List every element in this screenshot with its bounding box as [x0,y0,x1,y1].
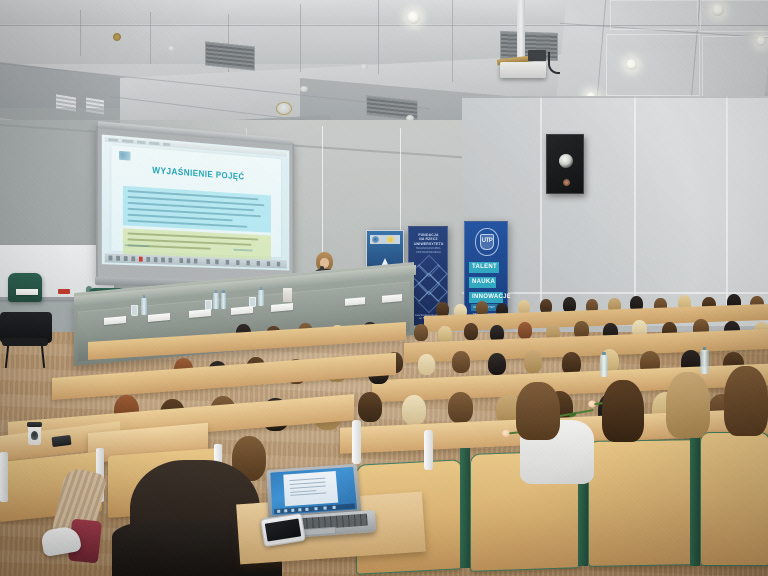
banner-bar-label: NAUKA [472,278,495,287]
attendee-head [414,324,428,341]
document-window[interactable] [284,471,338,506]
water-bottle [213,293,219,309]
drinking-glass [249,297,256,307]
name-card [16,289,38,295]
slide-logo-icon [119,151,130,161]
drinking-glass [205,300,212,310]
banner-bar-nauka: NAUKA [469,277,496,288]
speaker-tweeter-icon [563,179,570,186]
projection-screen: WYJAŚNIENIE POJĘĆ [96,126,294,287]
attendee-head [358,392,382,422]
laptop-trackpad[interactable] [302,527,336,536]
banner-bar-label: TALENT [472,263,497,272]
ceiling-sensor [113,33,121,41]
water-bottle [700,350,709,374]
ceiling-downlight [756,36,766,46]
attendee-head [488,353,506,375]
ceiling-downlight [360,64,368,70]
cup-logo-icon [31,431,38,440]
water-bottle [600,355,608,377]
attendee-head [448,392,473,423]
ceiling-downlight [626,59,637,70]
university-crest-icon: UTP [475,228,497,254]
projector-pole [517,0,525,58]
marker [58,289,70,294]
water-bottle [141,298,147,315]
projector-junction-box [528,50,546,61]
laptop-screen[interactable] [270,467,357,515]
ceiling-vent [205,41,255,70]
attendee-head [518,322,532,339]
seat-divider-post [424,430,433,470]
banner-subtitle: TECHNOLOGICZNO-PRZYRODNICZEGO [414,247,443,254]
banner-heading: FUNDACJA NA RZECZ UNIWERSYTETU TECHNOLOG… [414,233,443,254]
lecture-hall-photo: WYJAŚNIENIE POJĘĆ [0,0,768,576]
water-bottle [258,290,264,306]
ceiling-speaker-dome [276,102,292,115]
wall-speaker [546,134,584,194]
seat-back [700,432,768,566]
side-chair [8,273,42,302]
slide-text-block-cyan [123,186,271,233]
cup-lid [27,422,42,427]
seat-divider-post [690,430,700,566]
seat-divider-post [0,452,8,502]
speaker-cone-icon [559,154,573,168]
coffee-cup [27,422,42,445]
attendee-head [418,354,435,375]
black-stacking-chair [0,312,52,368]
ceiling-projector [500,62,546,78]
attendee-head [666,372,710,438]
ceiling-downlight [407,11,420,24]
drinking-glass [131,305,138,316]
attendee-head [464,323,478,340]
screen-surface: WYJAŚNIENIE POJĘĆ [102,134,289,270]
banner-line-3: UNIWERSYTETU [414,242,443,246]
seat-back [588,439,698,567]
attendee-head [524,350,542,373]
slide-page: WYJAŚNIENIE POJĘĆ [111,145,281,257]
ceiling-downlight [168,46,175,51]
water-bottle [221,293,226,309]
ceiling-downlight [300,86,308,92]
phone-screen[interactable] [265,518,301,541]
seat-divider-post [460,448,470,568]
poster-sun-icon [387,236,394,243]
attendee-head [724,366,768,436]
paper-stack [283,288,292,302]
attendee-head [452,351,470,373]
seat-divider-post [352,420,361,464]
projector-cable [548,52,560,74]
poster-logo-icon [372,236,379,243]
attendee-head [602,380,644,442]
slide-title: WYJAŚNIENIE POJĘĆ [111,162,281,184]
attendee-head [438,326,452,342]
crest-shield-icon: UTP [480,234,494,250]
attendee-head [516,382,560,440]
banner-bar-talent: TALENT [469,262,499,273]
ceiling-downlight [712,4,724,16]
attendee-head [402,395,426,425]
crest-initials: UTP [481,235,493,248]
